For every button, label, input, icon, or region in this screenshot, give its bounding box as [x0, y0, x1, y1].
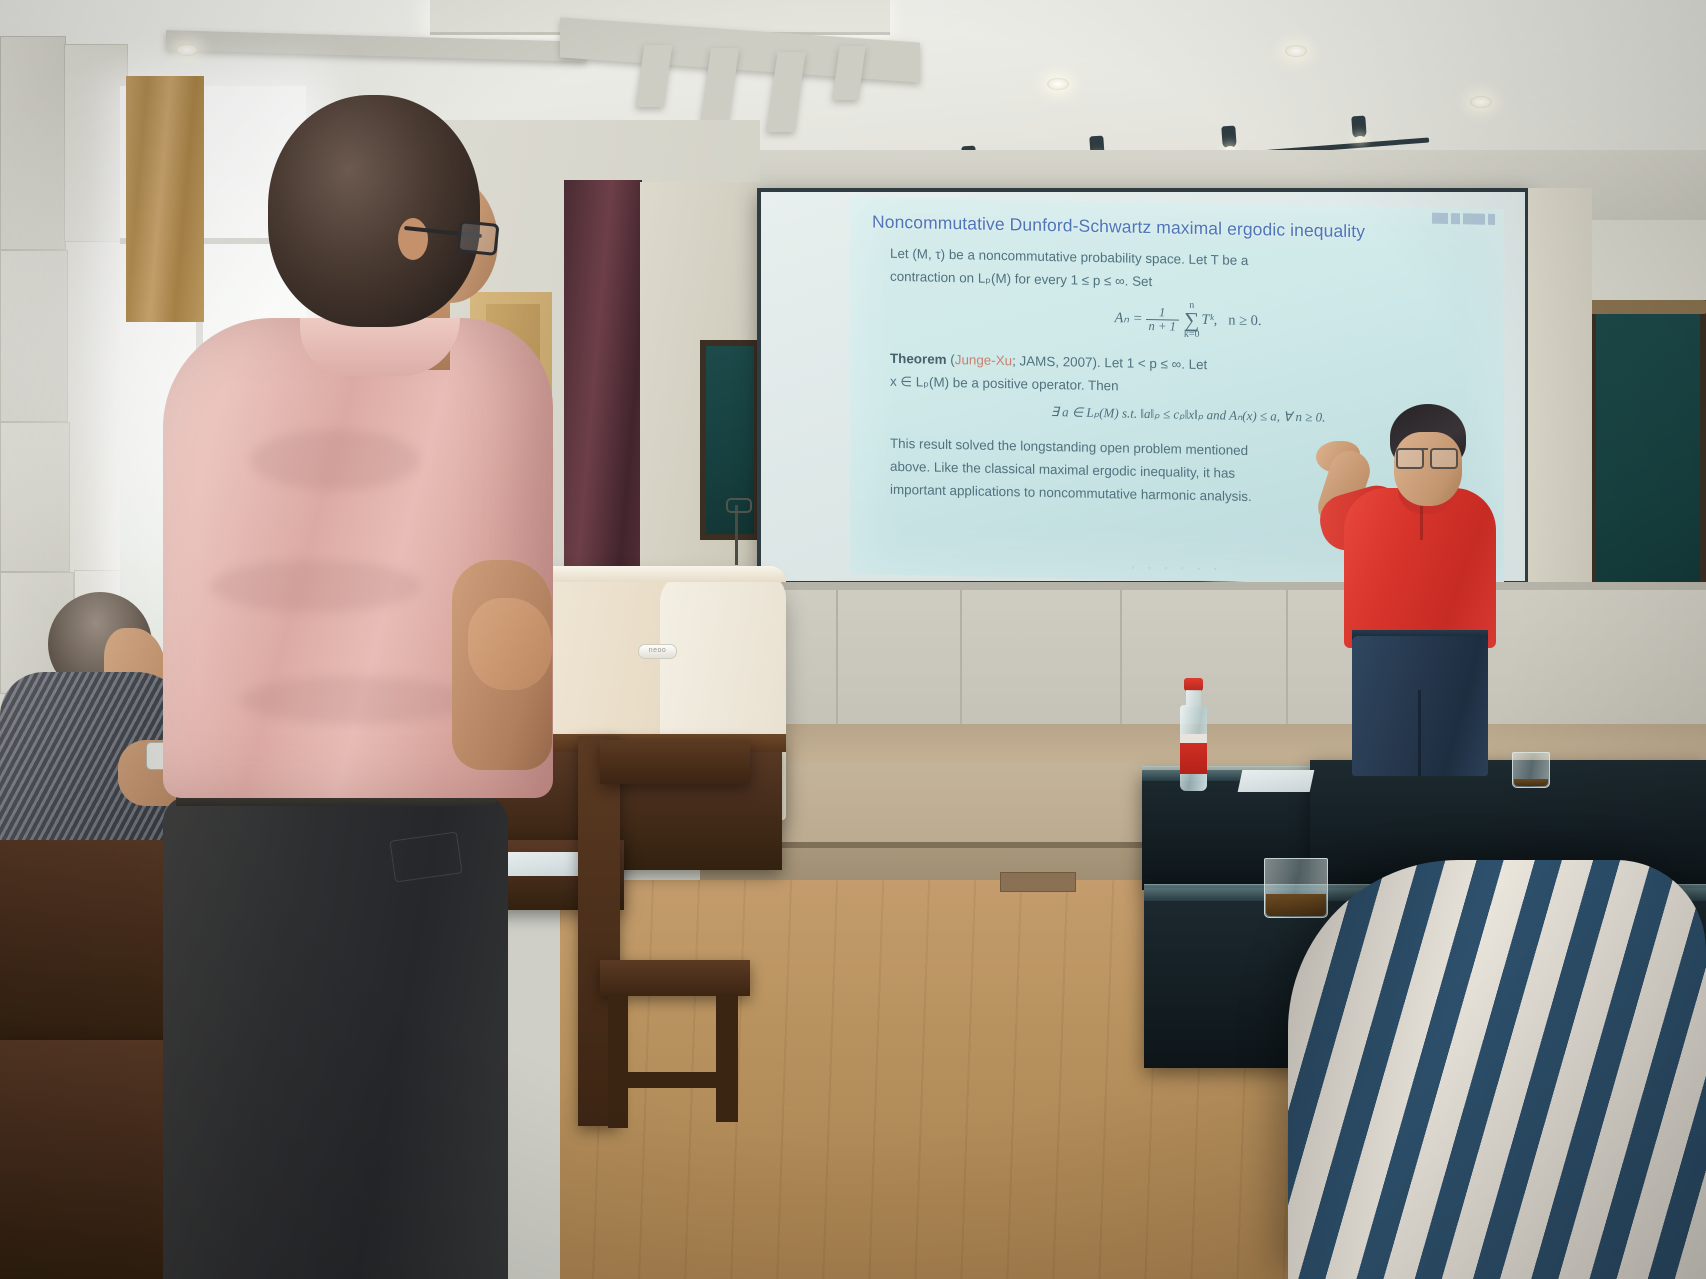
- chalkboard-right: [1590, 300, 1706, 630]
- formula-condition: n ≥ 0.: [1228, 313, 1261, 330]
- theorem-label: Theorem: [890, 351, 947, 367]
- eyeglasses-lens-icon: [456, 220, 499, 256]
- eyeglasses-bridge-icon: [1418, 448, 1428, 450]
- curtain-left: [126, 76, 204, 322]
- floor-vent: [1000, 872, 1076, 892]
- chair-stretcher: [612, 1072, 738, 1088]
- desk-left-lower: [0, 1040, 170, 1279]
- bottle-label: [1180, 734, 1207, 774]
- slide-title: Noncommutative Dunford-Schwartz maximal …: [872, 210, 1486, 245]
- downlight-icon: [176, 44, 198, 56]
- downlight-icon: [1047, 78, 1069, 90]
- foreground-man-ear: [398, 218, 428, 260]
- water-bottle: [1178, 678, 1209, 791]
- lecture-hall-screenshot: Noncommutative Dunford-Schwartz maximal …: [0, 0, 1706, 1279]
- lectern-top-surface: [540, 566, 786, 582]
- foreground-man-hair: [268, 95, 480, 327]
- downlight-icon: [1470, 96, 1492, 108]
- sum-lower-limit: k=0: [1184, 329, 1200, 340]
- plastic-cup-with-tea: [1264, 858, 1328, 918]
- notebook-on-desk: [1238, 770, 1315, 792]
- downlight-icon: [1285, 45, 1307, 57]
- theorem-citation: Junge-Xu: [955, 352, 1012, 368]
- formula-lhs: Aₙ =: [1114, 310, 1142, 327]
- striped-shirt-shading: [1288, 860, 1706, 1279]
- cabinet-top-rail: [760, 582, 1706, 590]
- wall-panel: [64, 44, 128, 242]
- speaker-placket: [1420, 506, 1423, 540]
- formula-fraction-denominator: n + 1: [1146, 320, 1179, 334]
- track-lamp: [1221, 126, 1237, 149]
- theorem-reference: ; JAMS, 2007). Let 1 < p ≤ ∞. Let: [1012, 353, 1207, 372]
- chair-backrest: [600, 740, 750, 784]
- podium-logo-badge: neoo: [638, 644, 677, 659]
- eyeglasses-right-lens-icon: [1430, 448, 1458, 469]
- track-lamp: [1351, 116, 1367, 139]
- sum-symbol-icon: ∑: [1184, 311, 1200, 330]
- shirt-fold: [250, 430, 420, 490]
- paper-sheet: [497, 852, 588, 876]
- speaker-face: [1394, 432, 1462, 506]
- chair-leg: [716, 994, 738, 1122]
- wall-panel: [0, 422, 70, 572]
- microphone-icon: [726, 498, 752, 513]
- plastic-cup: [1512, 752, 1550, 788]
- chalkboard-tray: [1578, 300, 1706, 314]
- cup-liquid: [1514, 779, 1548, 786]
- microphone-stand: [735, 505, 738, 565]
- speaker-leg-seam: [1418, 690, 1421, 776]
- wall-panel: [0, 36, 66, 250]
- chair-leg: [608, 994, 628, 1128]
- shirt-fold: [240, 676, 470, 724]
- formula-averaging-operator: Aₙ =1n + 1n∑k=0Tᵏ, n ≥ 0.: [890, 295, 1486, 346]
- wall-panel: [0, 250, 68, 422]
- formula-term: Tᵏ,: [1202, 312, 1218, 328]
- eyeglasses-left-lens-icon: [1396, 448, 1424, 469]
- shirt-fold: [210, 560, 420, 612]
- cup-liquid: [1266, 894, 1326, 916]
- wall-strip-right: [1528, 188, 1592, 618]
- foreground-man-hand: [468, 598, 552, 690]
- chair-seat: [600, 960, 750, 996]
